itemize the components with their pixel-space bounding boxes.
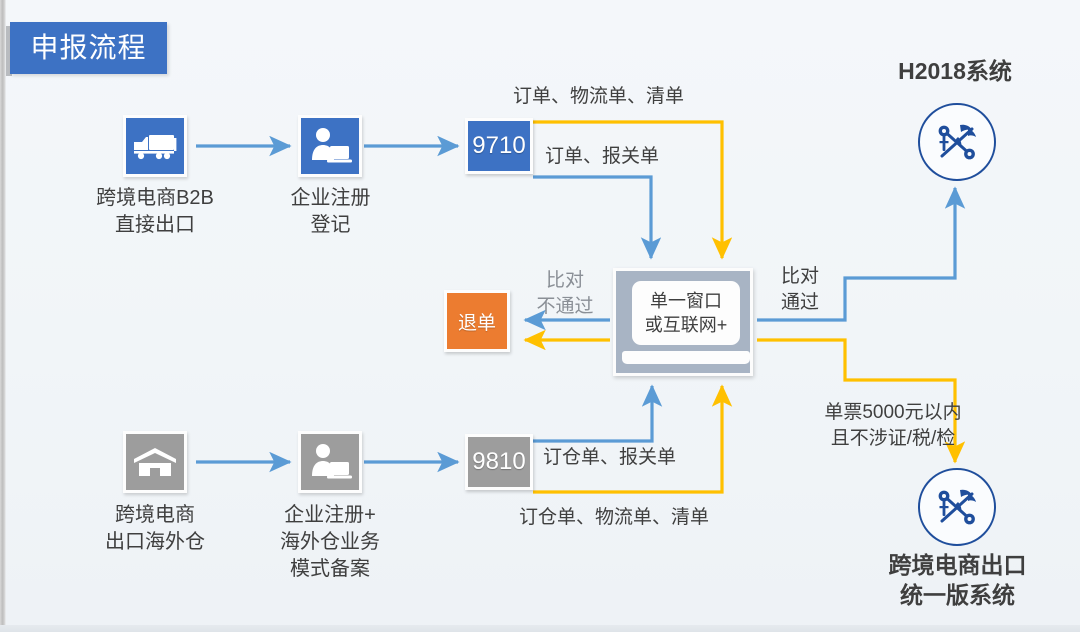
top-yellow-flow-label: 订单、物流单、清单 <box>513 84 684 110</box>
laptop-base <box>622 351 750 364</box>
bottom-node1-label: 跨境电商 出口海外仓 <box>80 502 230 556</box>
code-box-9710: 9710 <box>465 118 533 174</box>
enterprise-registration-icon <box>298 431 362 493</box>
top-blue-flow-label: 订单、报关单 <box>545 144 659 170</box>
bottom-blue-flow-label: 订仓单、报关单 <box>543 445 676 471</box>
compare-pass-label: 比对 通过 <box>770 264 830 316</box>
refund-box: 退单 <box>444 290 510 352</box>
single-window-hub: 单一窗口 或互联网+ <box>613 268 753 376</box>
laptop-icon: 单一窗口 或互联网+ <box>632 281 740 345</box>
truck-icon <box>123 115 187 177</box>
top-node2-label: 企业注册 登记 <box>253 185 408 239</box>
code-box-9810: 9810 <box>465 434 533 490</box>
page-title: 申报流程 <box>10 22 167 74</box>
warehouse-icon <box>123 431 187 493</box>
customs-emblem-icon <box>918 468 996 546</box>
enterprise-registration-icon <box>298 115 362 177</box>
amount-condition-label: 单票5000元以内 且不涉证/税/检 <box>793 400 993 452</box>
hub-label: 单一窗口 或互联网+ <box>645 289 728 337</box>
top-node1-label: 跨境电商B2B 直接出口 <box>75 185 235 239</box>
system-top-title: H2018系统 <box>865 58 1045 85</box>
customs-emblem-icon <box>918 103 996 181</box>
system-bottom-title: 跨境电商出口 统一版系统 <box>860 550 1055 610</box>
bottom-yellow-flow-label: 订仓单、物流单、清单 <box>519 505 709 531</box>
diagram-canvas: 申报流程 跨境电商B2B 直接出口 企业注册 登记 9710 订单、物流单、清单… <box>0 0 1080 632</box>
compare-fail-label: 比对 不通过 <box>526 268 604 320</box>
bottom-node2-label: 企业注册+ 海外仓业务 模式备案 <box>250 502 410 583</box>
